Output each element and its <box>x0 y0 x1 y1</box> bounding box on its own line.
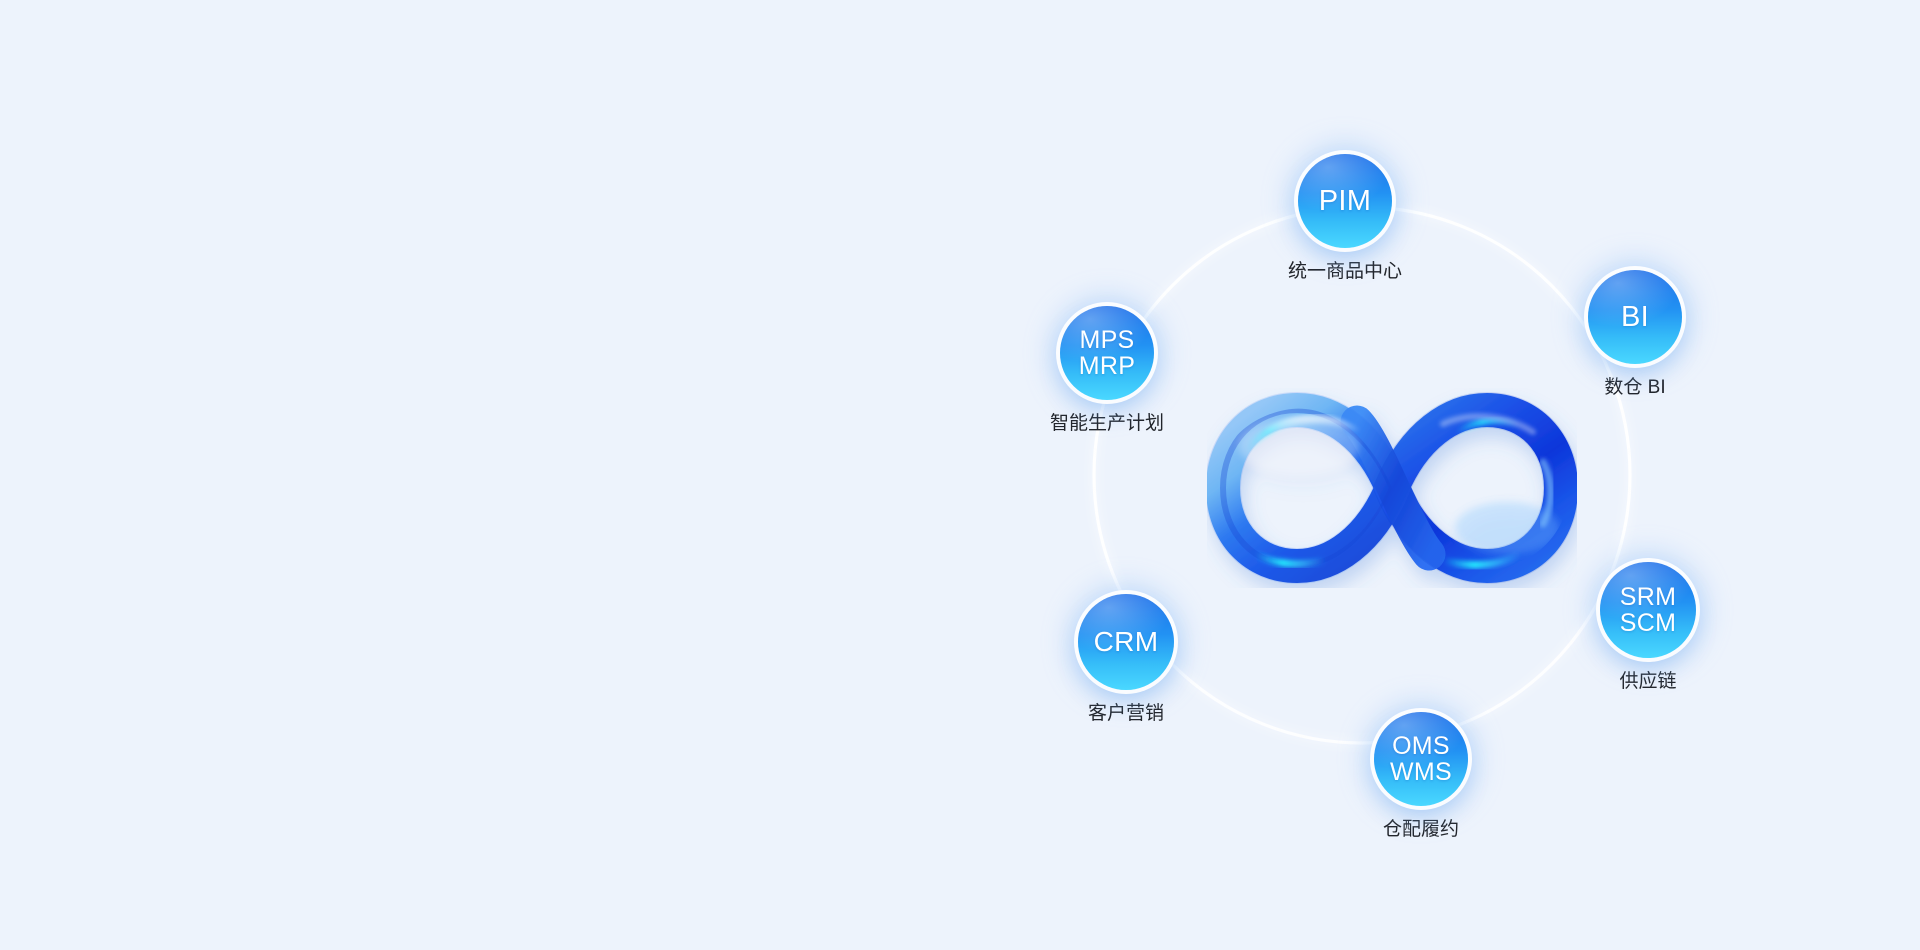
node-bi[interactable]: BI 数仓 BI <box>1588 270 1682 400</box>
node-bi-bubble[interactable]: BI <box>1588 270 1682 364</box>
node-bi-line-1: BI <box>1621 302 1649 332</box>
node-pim-caption: 统一商品中心 <box>1288 261 1402 284</box>
node-pim-bubble[interactable]: PIM <box>1298 154 1392 248</box>
node-mps-mrp-caption: 智能生产计划 <box>1050 413 1164 436</box>
node-crm-caption: 客户营销 <box>1088 703 1164 726</box>
node-mps-mrp-bubble[interactable]: MPS MRP <box>1060 306 1154 400</box>
node-srm-scm-caption: 供应链 <box>1619 671 1676 694</box>
node-mps-mrp[interactable]: MPS MRP 智能生产计划 <box>1050 306 1164 436</box>
node-pim-line-1: PIM <box>1319 186 1371 216</box>
node-oms-wms-line-2: WMS <box>1390 759 1452 785</box>
infinity-symbol-icon <box>1207 388 1577 588</box>
node-oms-wms[interactable]: OMS WMS 仓配履约 <box>1374 712 1468 842</box>
node-mps-mrp-line-1: MPS <box>1079 327 1134 353</box>
node-crm-line-1: CRM <box>1094 627 1159 656</box>
node-bi-caption: 数仓 BI <box>1604 377 1665 400</box>
node-srm-scm[interactable]: SRM SCM 供应链 <box>1600 562 1696 694</box>
node-crm[interactable]: CRM 客户营销 <box>1078 594 1174 726</box>
node-mps-mrp-line-2: MRP <box>1079 353 1135 379</box>
node-srm-scm-bubble[interactable]: SRM SCM <box>1600 562 1696 658</box>
diagram-canvas: PIM 统一商品中心 BI 数仓 BI SRM SCM 供应链 OMS WMS … <box>0 0 1920 950</box>
node-srm-scm-line-1: SRM <box>1620 584 1676 610</box>
node-pim[interactable]: PIM 统一商品中心 <box>1288 154 1402 284</box>
node-oms-wms-caption: 仓配履约 <box>1383 819 1459 842</box>
node-srm-scm-line-2: SCM <box>1620 610 1676 636</box>
node-oms-wms-line-1: OMS <box>1392 733 1450 759</box>
node-crm-bubble[interactable]: CRM <box>1078 594 1174 690</box>
node-oms-wms-bubble[interactable]: OMS WMS <box>1374 712 1468 806</box>
